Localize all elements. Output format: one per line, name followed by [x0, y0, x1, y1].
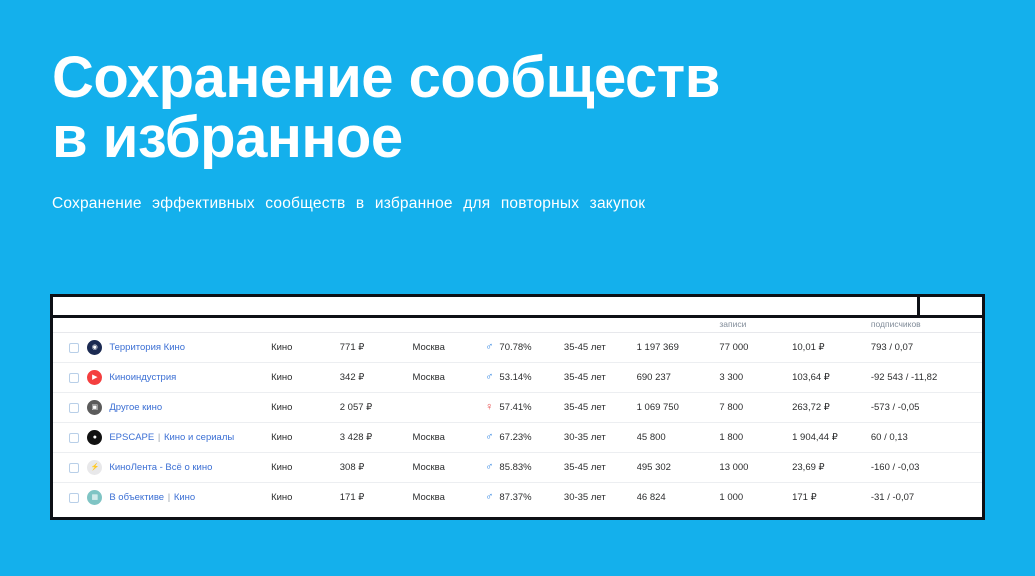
city-cell: Москва — [412, 453, 485, 483]
row-checkbox-cell[interactable] — [53, 423, 87, 453]
city-cell: Москва — [412, 363, 485, 393]
price-cell: 308 ₽ — [340, 453, 413, 483]
gender-percent: 57.41% — [499, 402, 531, 413]
community-link[interactable]: Территория Кино — [109, 342, 185, 353]
table-header: записи подписчиков — [53, 318, 982, 333]
category-cell: Кино — [271, 363, 340, 393]
posts-cell: 13 000 — [719, 453, 792, 483]
row-checkbox-cell[interactable] — [53, 393, 87, 423]
community-cell: ●EPSCAPE | Кино и сериалы — [87, 423, 271, 453]
city-cell: Москва — [412, 333, 485, 363]
communities-table: записи подписчиков ◉Территория КиноКино7… — [53, 318, 982, 512]
table-row[interactable]: ▣Другое киноКино2 057 ₽♀57.41%35-45 лет1… — [53, 393, 982, 423]
community-link[interactable]: КиноЛента - Всё о кино — [109, 462, 212, 473]
gender-percent: 53.14% — [499, 372, 531, 383]
community-link[interactable]: В объективе | Кино — [109, 492, 195, 503]
screenshot-topbar-tail — [920, 297, 982, 315]
table-row[interactable]: ▶КиноиндустрияКино342 ₽Москва♂53.14%35-4… — [53, 363, 982, 393]
community-link[interactable]: EPSCAPE | Кино и сериалы — [109, 432, 234, 443]
community-avatar: ▦ — [87, 490, 102, 505]
female-icon: ♀ — [485, 402, 493, 413]
subscribers-cell: 60 / 0,13 — [871, 423, 982, 453]
row-checkbox[interactable] — [69, 403, 79, 413]
community-avatar: ◉ — [87, 340, 102, 355]
screenshot-topbar — [53, 297, 982, 315]
screenshot-body: записи подписчиков ◉Территория КиноКино7… — [53, 318, 982, 517]
male-icon: ♂ — [485, 342, 493, 353]
cpm-cell: 103,64 ₽ — [792, 363, 871, 393]
price-cell: 171 ₽ — [340, 483, 413, 513]
community-cell: ▶Киноиндустрия — [87, 363, 271, 393]
age-cell: 30-35 лет — [564, 483, 637, 513]
reach-cell: 45 800 — [637, 423, 720, 453]
subscribers-cell: -160 / -0,03 — [871, 453, 982, 483]
gender-percent: 70.78% — [499, 342, 531, 353]
gender-cell: ♂67.23% — [485, 423, 564, 453]
column-header-posts[interactable]: записи — [719, 318, 792, 333]
screenshot-frame: записи подписчиков ◉Территория КиноКино7… — [50, 294, 985, 520]
category-cell: Кино — [271, 453, 340, 483]
city-cell: Москва — [412, 483, 485, 513]
price-cell: 771 ₽ — [340, 333, 413, 363]
community-avatar: ▣ — [87, 400, 102, 415]
cpm-cell: 1 904,44 ₽ — [792, 423, 871, 453]
gender-percent: 87.37% — [499, 492, 531, 503]
row-checkbox[interactable] — [69, 373, 79, 383]
row-checkbox-cell[interactable] — [53, 333, 87, 363]
column-header-checkbox[interactable] — [53, 318, 87, 333]
column-header-category[interactable] — [271, 318, 340, 333]
age-cell: 35-45 лет — [564, 453, 637, 483]
posts-cell: 1 800 — [719, 423, 792, 453]
gender-cell: ♀57.41% — [485, 393, 564, 423]
cpm-cell: 171 ₽ — [792, 483, 871, 513]
posts-cell: 77 000 — [719, 333, 792, 363]
page-subtitle: Сохранение эффективных сообществ в избра… — [52, 167, 952, 213]
row-checkbox[interactable] — [69, 433, 79, 443]
community-link[interactable]: Киноиндустрия — [109, 372, 176, 383]
gender-percent: 67.23% — [499, 432, 531, 443]
city-cell: Москва — [412, 423, 485, 453]
row-checkbox[interactable] — [69, 463, 79, 473]
cpm-cell: 263,72 ₽ — [792, 393, 871, 423]
table-row[interactable]: ◉Территория КиноКино771 ₽Москва♂70.78%35… — [53, 333, 982, 363]
row-checkbox[interactable] — [69, 493, 79, 503]
community-avatar: ● — [87, 430, 102, 445]
column-header-cpm[interactable] — [792, 318, 871, 333]
male-icon: ♂ — [485, 462, 493, 473]
category-cell: Кино — [271, 483, 340, 513]
column-header-city[interactable] — [412, 318, 485, 333]
male-icon: ♂ — [485, 372, 493, 383]
table-row[interactable]: ●EPSCAPE | Кино и сериалыКино3 428 ₽Моск… — [53, 423, 982, 453]
community-cell: ▦В объективе | Кино — [87, 483, 271, 513]
column-header-subscribers[interactable]: подписчиков — [871, 318, 982, 333]
age-cell: 35-45 лет — [564, 393, 637, 423]
page-title: Сохранение сообществ в избранное — [52, 48, 952, 167]
reach-cell: 1 069 750 — [637, 393, 720, 423]
category-cell: Кино — [271, 333, 340, 363]
gender-cell: ♂85.83% — [485, 453, 564, 483]
gender-cell: ♂87.37% — [485, 483, 564, 513]
posts-cell: 1 000 — [719, 483, 792, 513]
price-cell: 2 057 ₽ — [340, 393, 413, 423]
table-header-row: записи подписчиков — [53, 318, 982, 333]
slide-heading-block: Сохранение сообществ в избранное Сохране… — [52, 48, 952, 213]
column-header-reach[interactable] — [637, 318, 720, 333]
gender-cell: ♂53.14% — [485, 363, 564, 393]
row-checkbox-cell[interactable] — [53, 453, 87, 483]
male-icon: ♂ — [485, 432, 493, 443]
subscribers-cell: 793 / 0,07 — [871, 333, 982, 363]
row-checkbox-cell[interactable] — [53, 363, 87, 393]
posts-cell: 7 800 — [719, 393, 792, 423]
community-link[interactable]: Другое кино — [109, 402, 162, 413]
table-body: ◉Территория КиноКино771 ₽Москва♂70.78%35… — [53, 333, 982, 513]
category-cell: Кино — [271, 423, 340, 453]
age-cell: 30-35 лет — [564, 423, 637, 453]
column-header-age[interactable] — [564, 318, 637, 333]
community-avatar: ⚡ — [87, 460, 102, 475]
price-cell: 3 428 ₽ — [340, 423, 413, 453]
gender-percent: 85.83% — [499, 462, 531, 473]
row-checkbox-cell[interactable] — [53, 483, 87, 513]
community-cell: ▣Другое кино — [87, 393, 271, 423]
column-header-name[interactable] — [87, 318, 271, 333]
column-header-price[interactable] — [340, 318, 413, 333]
table-row[interactable]: ⚡КиноЛента - Всё о киноКино308 ₽Москва♂8… — [53, 453, 982, 483]
cpm-cell: 10,01 ₽ — [792, 333, 871, 363]
cpm-cell: 23,69 ₽ — [792, 453, 871, 483]
age-cell: 35-45 лет — [564, 333, 637, 363]
gender-cell: ♂70.78% — [485, 333, 564, 363]
screenshot-topbar-main — [53, 297, 920, 315]
row-checkbox[interactable] — [69, 343, 79, 353]
reach-cell: 1 197 369 — [637, 333, 720, 363]
posts-cell: 3 300 — [719, 363, 792, 393]
community-cell: ⚡КиноЛента - Всё о кино — [87, 453, 271, 483]
subscribers-cell: -31 / -0,07 — [871, 483, 982, 513]
reach-cell: 495 302 — [637, 453, 720, 483]
community-cell: ◉Территория Кино — [87, 333, 271, 363]
male-icon: ♂ — [485, 492, 493, 503]
reach-cell: 46 824 — [637, 483, 720, 513]
category-cell: Кино — [271, 393, 340, 423]
column-header-gender[interactable] — [485, 318, 564, 333]
city-cell — [412, 393, 485, 423]
price-cell: 342 ₽ — [340, 363, 413, 393]
reach-cell: 690 237 — [637, 363, 720, 393]
subscribers-cell: -92 543 / -11,82 — [871, 363, 982, 393]
community-avatar: ▶ — [87, 370, 102, 385]
age-cell: 35-45 лет — [564, 363, 637, 393]
subscribers-cell: -573 / -0,05 — [871, 393, 982, 423]
table-row[interactable]: ▦В объективе | КиноКино171 ₽Москва♂87.37… — [53, 483, 982, 513]
